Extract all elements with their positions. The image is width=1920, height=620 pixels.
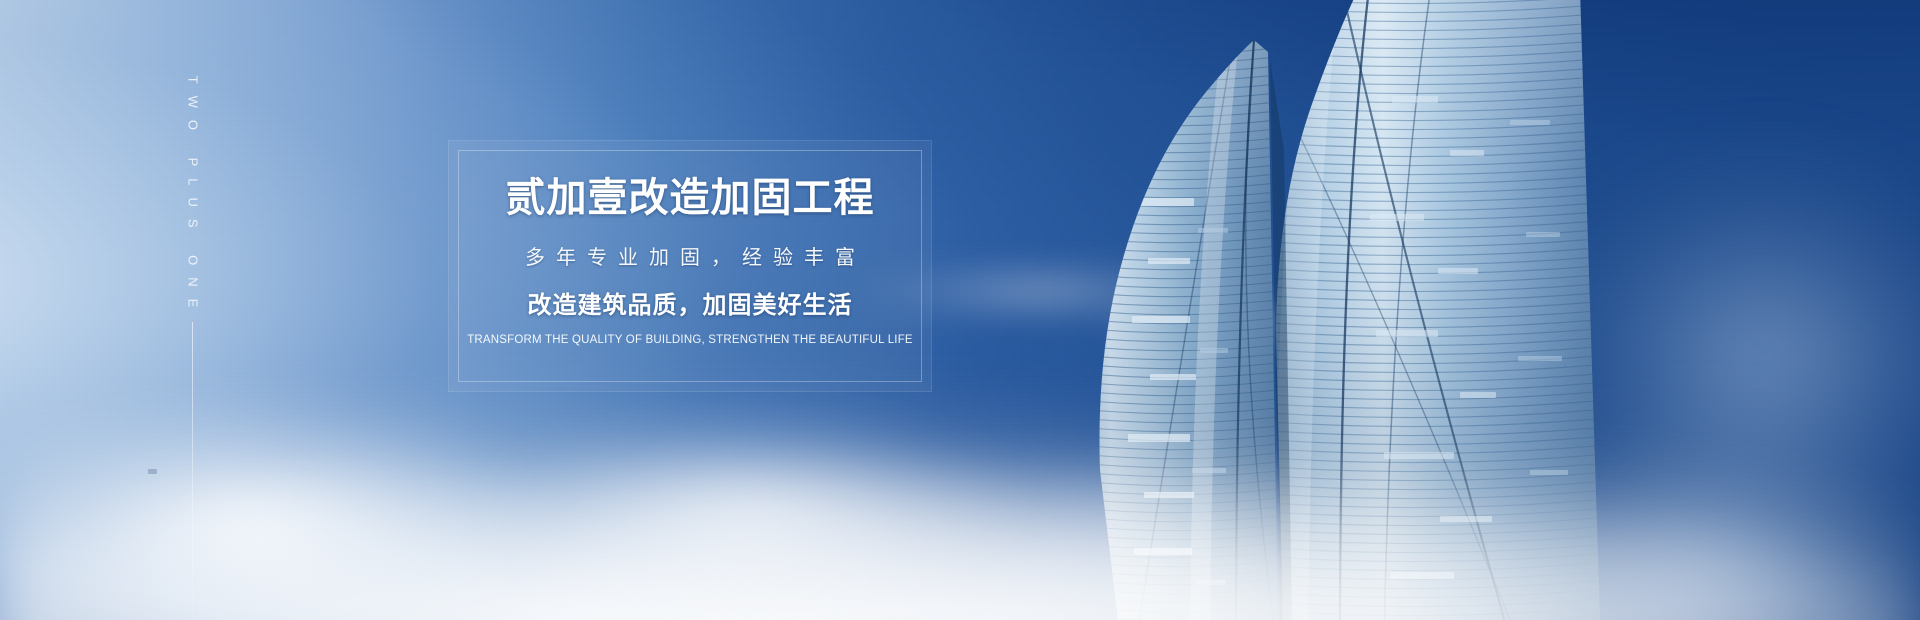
- headline-slogan: 改造建筑品质，加固美好生活: [528, 294, 853, 318]
- vertical-brand-label: TWO PLUS ONE: [186, 75, 201, 319]
- headline-english: TRANSFORM THE QUALITY OF BUILDING, STREN…: [467, 335, 913, 347]
- headline-panel-content: 贰加壹改造加固工程 多年专业加固，经验丰富 改造建筑品质，加固美好生活 TRAN…: [448, 140, 932, 392]
- skyscraper-photo-region: [1040, 0, 1920, 620]
- skyscraper-back-tower: [1255, 0, 1625, 620]
- hero-banner: TWO PLUS ONE 贰加壹改造加固工程 多年专业加固，经验丰富 改造建筑品…: [0, 0, 1920, 620]
- headline-tagline: 多年专业加固，经验丰富: [514, 248, 866, 268]
- corner-mark: [148, 469, 157, 474]
- vertical-divider-line: [192, 322, 193, 620]
- headline-title: 贰加壹改造加固工程: [506, 178, 875, 218]
- skyscraper-front-tower: [1080, 20, 1300, 620]
- headline-panel: 贰加壹改造加固工程 多年专业加固，经验丰富 改造建筑品质，加固美好生活 TRAN…: [448, 140, 932, 392]
- skyscrapers-illustration: [1040, 0, 1920, 620]
- vertical-brand-text: TWO PLUS ONE: [178, 72, 208, 322]
